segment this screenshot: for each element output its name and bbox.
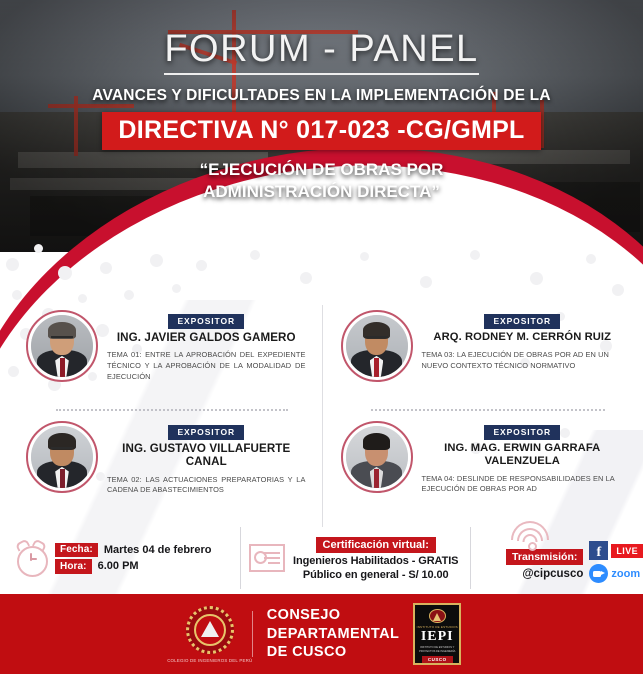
organization-line-2: DEPARTAMENTAL: [267, 625, 399, 644]
poster-footer: COLEGIO DE INGENIEROS DEL PERÚ CONSEJO D…: [0, 594, 643, 674]
live-badge: LIVE: [611, 544, 643, 558]
certification-block: Certificación virtual: Ingenieros Habili…: [240, 527, 470, 589]
iepi-badge-city: CUSCO: [422, 656, 453, 663]
event-info-bar: Fecha: Martes 04 de febrero Hora: 6.00 P…: [0, 527, 643, 589]
certification-label: Certificación virtual:: [316, 537, 436, 553]
avatar: [26, 310, 98, 382]
organization-line-1: CONSEJO: [267, 606, 399, 625]
time-value: 6.00 PM: [98, 560, 139, 572]
card-divider: [56, 409, 288, 411]
speaker-name: ING. GUSTAVO VILLAFUERTE CANAL: [107, 442, 306, 469]
cip-logo-caption: COLEGIO DE INGENIEROS DEL PERÚ: [158, 658, 262, 663]
facebook-icon[interactable]: f: [589, 541, 608, 560]
speaker-card: EXPOSITOR ARQ. RODNEY M. CERRÓN RUIZ TEM…: [341, 305, 624, 409]
speakers-column-left: EXPOSITOR ING. JAVIER GALDOS GAMERO TEMA…: [0, 305, 322, 527]
certificate-icon: [249, 544, 285, 572]
card-divider: [371, 409, 606, 411]
speaker-card: EXPOSITOR ING. GUSTAVO VILLAFUERTE CANAL…: [26, 416, 306, 520]
speakers-section: EXPOSITOR ING. JAVIER GALDOS GAMERO TEMA…: [0, 305, 643, 527]
avatar: [341, 421, 413, 493]
event-poster: FORUM - PANEL AVANCES Y DIFICULTADES EN …: [0, 0, 643, 674]
poster-title: FORUM - PANEL: [164, 30, 478, 75]
speaker-card: EXPOSITOR ING. MAG. ERWIN GARRAFA VALENZ…: [341, 416, 624, 520]
zoom-icon[interactable]: [589, 564, 608, 583]
certification-free-line: Ingenieros Habilitados - GRATIS: [293, 555, 458, 567]
avatar: [341, 310, 413, 382]
date-label: Fecha:: [55, 543, 98, 558]
iepi-badge: INSTITUTO DE ESTUDIOS IEPI INSTITUTO DE …: [413, 603, 461, 665]
speaker-name: ING. MAG. ERWIN GARRAFA VALENZUELA: [422, 442, 624, 468]
transmission-block: Transmisión: @cipcusco f LIVE zoom: [470, 527, 643, 589]
broadcast-wifi-icon: [507, 521, 553, 553]
speakers-column-right: EXPOSITOR ARQ. RODNEY M. CERRÓN RUIZ TEM…: [322, 305, 643, 527]
date-value: Martes 04 de febrero: [104, 544, 212, 556]
speaker-topic: TEMA 04: DESLINDE DE RESPONSABILIDADES E…: [422, 474, 624, 495]
date-time-block: Fecha: Martes 04 de febrero Hora: 6.00 P…: [0, 527, 240, 589]
avatar: [26, 421, 98, 493]
speaker-topic: TEMA 02: LAS ACTUACIONES PREPARATORIAS Y…: [107, 475, 306, 496]
speaker-card: EXPOSITOR ING. JAVIER GALDOS GAMERO TEMA…: [26, 305, 306, 409]
organization-name: CONSEJO DEPARTAMENTAL DE CUSCO: [267, 606, 399, 662]
time-label: Hora:: [55, 559, 92, 574]
iepi-badge-title: IEPI: [421, 630, 454, 644]
certification-paid-line: Público en general - S/ 10.00: [293, 569, 458, 581]
speaker-topic: TEMA 01: ENTRE LA APROBACIÓN DEL EXPEDIE…: [107, 350, 306, 382]
hero-text-block: FORUM - PANEL AVANCES Y DIFICULTADES EN …: [0, 0, 643, 252]
organization-line-3: DE CUSCO: [267, 643, 399, 662]
speaker-name: ARQ. RODNEY M. CERRÓN RUIZ: [422, 331, 624, 344]
expositor-badge: EXPOSITOR: [168, 425, 244, 440]
footer-divider: [252, 611, 253, 657]
iepi-emblem-icon: [429, 609, 446, 623]
directive-banner: DIRECTIVA N° 017-023 -CG/GMPL: [102, 112, 540, 150]
expositor-badge: EXPOSITOR: [484, 425, 560, 440]
poster-quote-line-2: ADMINISTRACIÓN DIRECTA”: [0, 181, 643, 203]
poster-quote-line-1: “EJECUCIÓN DE OBRAS POR: [0, 159, 643, 181]
poster-subtitle: AVANCES Y DIFICULTADES EN LA IMPLEMENTAC…: [0, 87, 643, 105]
expositor-badge: EXPOSITOR: [484, 314, 560, 329]
social-handle: @cipcusco: [479, 568, 583, 580]
zoom-label: zoom: [611, 568, 640, 580]
iepi-badge-subtitle: INSTITUTO DE ESTUDIOS Y PROYECTOS DE ING…: [415, 646, 459, 653]
cip-logo: COLEGIO DE INGENIEROS DEL PERÚ: [182, 606, 238, 662]
speaker-name: ING. JAVIER GALDOS GAMERO: [107, 331, 306, 344]
alarm-clock-icon: [14, 540, 48, 576]
speaker-topic: TEMA 03: LA EJECUCIÓN DE OBRAS POR AD EN…: [422, 350, 624, 371]
expositor-badge: EXPOSITOR: [168, 314, 244, 329]
